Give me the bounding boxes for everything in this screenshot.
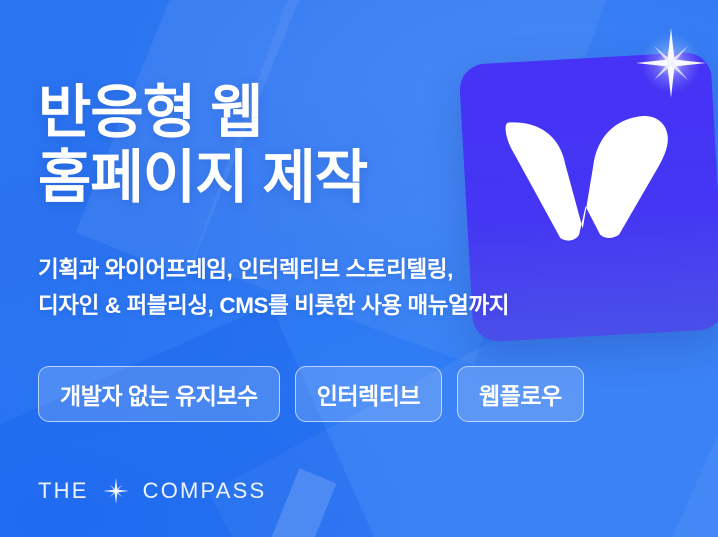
brand-logo: THE COMPASS [38,478,266,504]
subtitle-line-2: 디자인 & 퍼블리싱, CMS를 비롯한 사용 매뉴얼까지 [38,288,509,324]
pill-webflow[interactable]: 웹플로우 [457,366,584,422]
promo-banner: 반응형 웹 홈페이지 제작 기획과 와이어프레임, 인터렉티브 스토리텔링, 디… [0,0,718,537]
pill-maintenance[interactable]: 개발자 없는 유지보수 [38,366,280,422]
page-title: 반응형 웹 홈페이지 제작 [38,81,367,211]
feature-pill-row: 개발자 없는 유지보수 인터렉티브 웹플로우 [38,366,584,422]
headline-line-2: 홈페이지 제작 [38,146,367,211]
brand-word-the: THE [38,480,89,502]
subtitle-line-1: 기획과 와이어프레임, 인터렉티브 스토리텔링, [38,252,509,288]
pill-interactive[interactable]: 인터렉티브 [295,366,442,422]
brand-word-compass: COMPASS [143,480,267,502]
subtitle: 기획과 와이어프레임, 인터렉티브 스토리텔링, 디자인 & 퍼블리싱, CMS… [38,252,509,325]
banner-content: 반응형 웹 홈페이지 제작 기획과 와이어프레임, 인터렉티브 스토리텔링, 디… [0,0,718,537]
headline-line-1: 반응형 웹 [38,81,367,146]
four-point-star-icon [103,478,129,504]
